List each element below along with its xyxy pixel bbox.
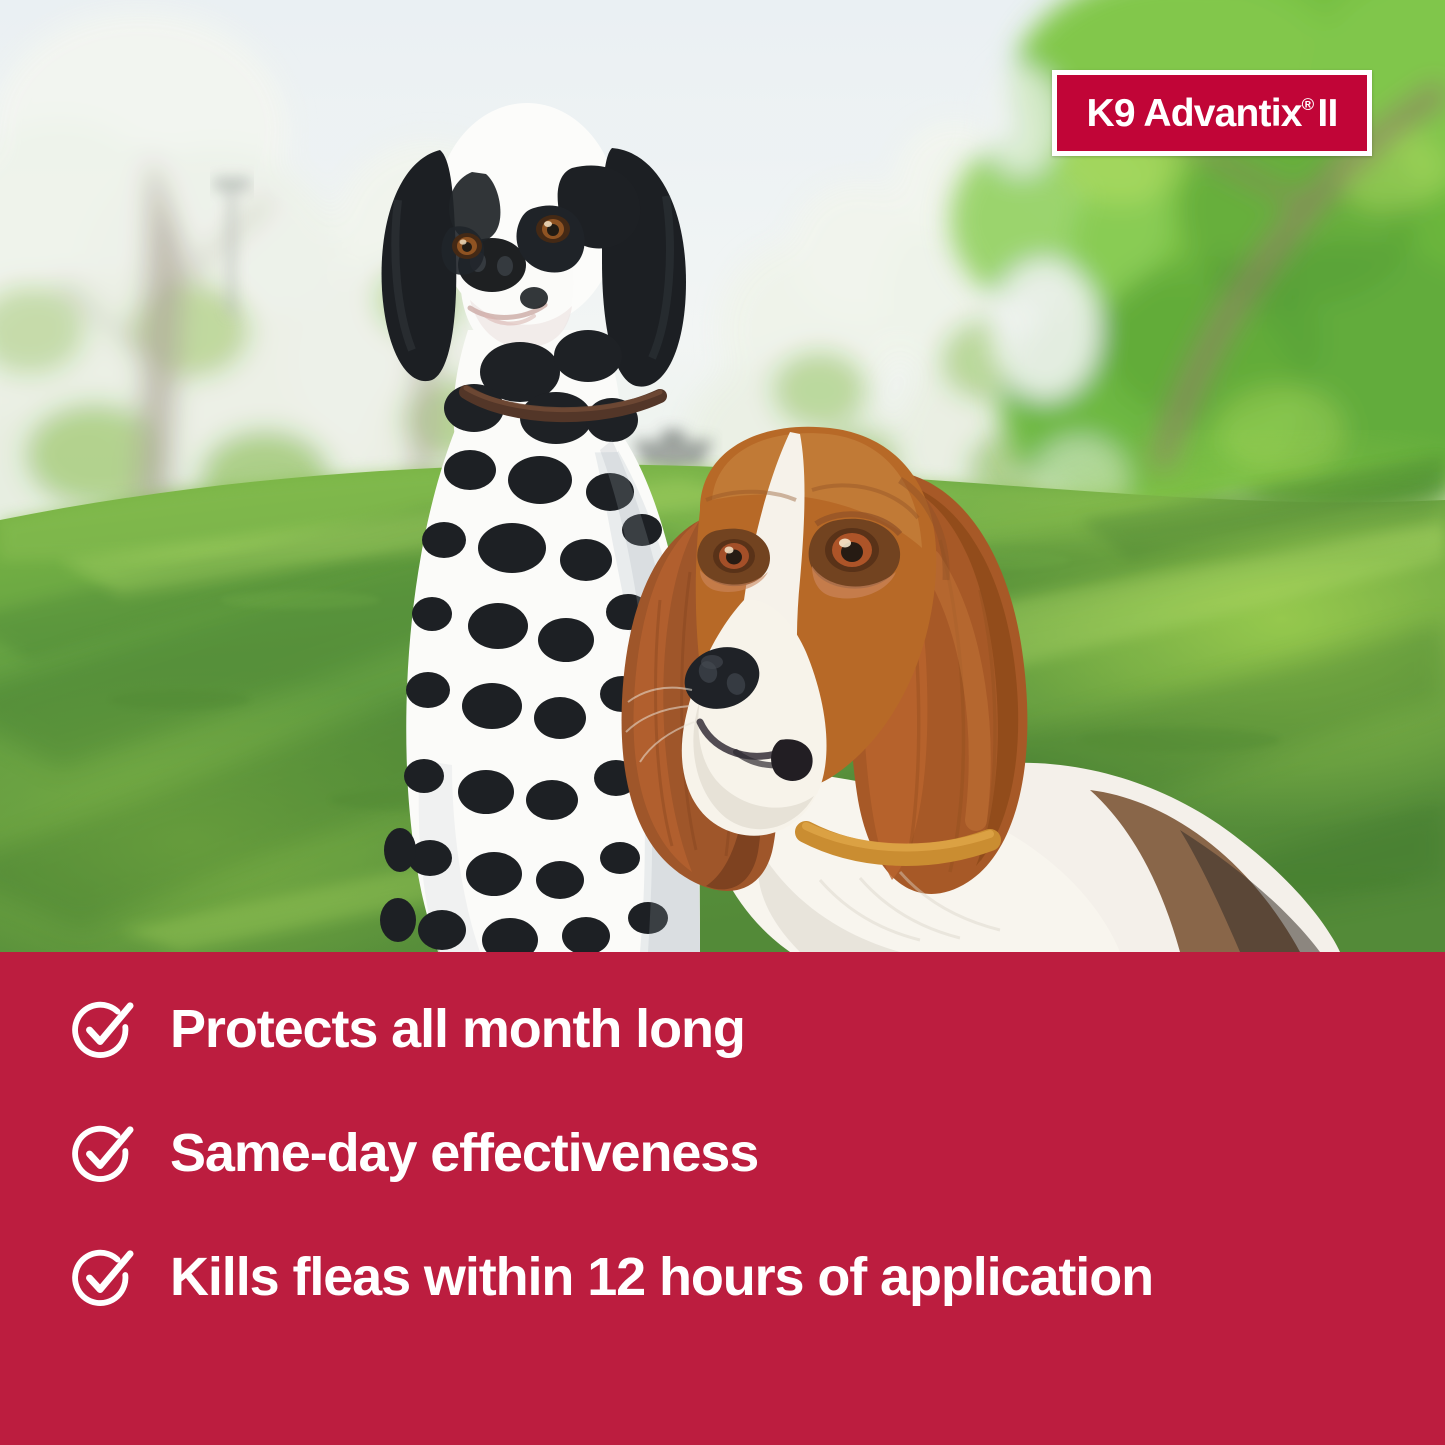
claims-panel: Protects all month long Same-day effecti…: [0, 952, 1445, 1445]
check-circle-icon: [72, 1122, 134, 1184]
brand-logo-text: K9 Advantix®II: [1087, 94, 1338, 133]
claim-text: Protects all month long: [170, 1002, 745, 1056]
product-ad-banner: K9 Advantix®II Protects all month long S…: [0, 0, 1445, 1445]
claim-text: Kills fleas within 12 hours of applicati…: [170, 1250, 1153, 1304]
claim-item-kills-fleas: Kills fleas within 12 hours of applicati…: [72, 1246, 1153, 1308]
claim-text: Same-day effectiveness: [170, 1126, 758, 1180]
claim-item-protects: Protects all month long: [72, 998, 745, 1060]
hero-photo: K9 Advantix®II: [0, 0, 1445, 952]
registered-trademark-icon: ®: [1302, 96, 1314, 113]
check-circle-icon: [72, 1246, 134, 1308]
brand-logo-badge: K9 Advantix®II: [1052, 70, 1372, 156]
brand-logo-main: K9 Advantix: [1087, 94, 1302, 133]
brand-logo-suffix: II: [1317, 94, 1337, 133]
claim-item-same-day: Same-day effectiveness: [72, 1122, 758, 1184]
check-circle-icon: [72, 998, 134, 1060]
